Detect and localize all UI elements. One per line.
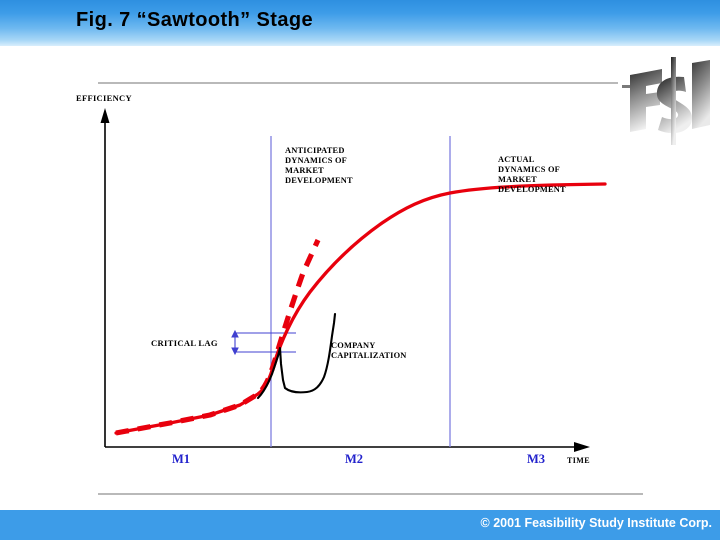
annotation-actual-dynamics: ACTUAL DYNAMICS OF MARKET DEVELOPMENT [498, 155, 566, 195]
copyright-text: © 2001 Feasibility Study Institute Corp. [481, 516, 712, 530]
sawtooth-chart [0, 46, 720, 510]
page-title: Fig. 7 “Sawtooth” Stage [76, 9, 313, 32]
y-axis-label: EFFICIENCY [76, 93, 132, 103]
capitalization-curve [258, 314, 335, 398]
annotation-company-capitalization: COMPANY CAPITALIZATION [331, 341, 407, 361]
x-tick-m1: M1 [172, 452, 190, 467]
actual-curve [116, 184, 605, 433]
annotation-anticipated-dynamics: ANTICIPATED DYNAMICS OF MARKET DEVELOPME… [285, 146, 353, 186]
annotation-critical-lag: CRITICAL LAG [151, 338, 218, 348]
anticipated-curve [116, 240, 318, 433]
x-axis-label: TIME [567, 456, 590, 465]
slide: Fig. 7 “Sawtooth” Stage [0, 0, 720, 540]
x-axis [105, 442, 590, 452]
y-axis [101, 108, 110, 447]
x-tick-m2: M2 [345, 452, 363, 467]
x-tick-m3: M3 [527, 452, 545, 467]
